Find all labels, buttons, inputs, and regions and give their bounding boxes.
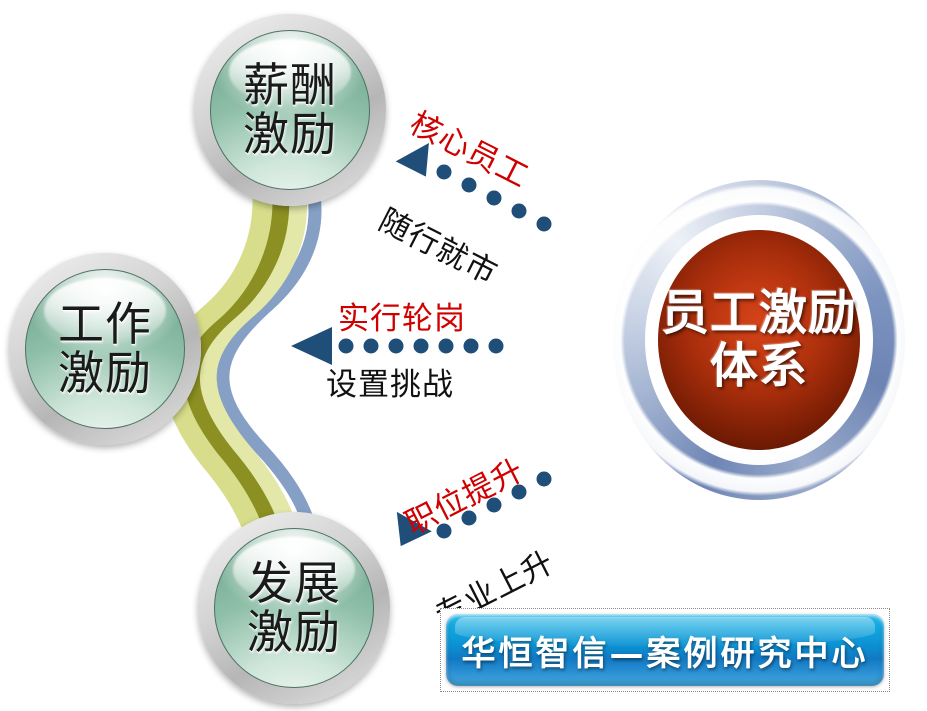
core-label: 员工激励 体系	[661, 287, 857, 393]
arrow-bottom-label-set-challenges: 设置挑战	[326, 359, 454, 404]
node-salary-incentive[interactable]: 薪酬 激励	[194, 14, 386, 206]
banner-selection-frame[interactable]: 华恒智信—案例研究中心	[440, 608, 890, 692]
arrow-top-label-job-rotation: 实行轮岗	[338, 293, 466, 338]
credit-banner[interactable]: 华恒智信—案例研究中心	[446, 614, 884, 686]
node-label-salary: 薪酬 激励	[243, 61, 337, 159]
node-work-incentive[interactable]: 工作 激励	[9, 253, 201, 445]
arrow-group-core-employee[interactable]: 核心员工 随行就市	[396, 100, 596, 275]
banner-label: 华恒智信—案例研究中心	[462, 626, 869, 675]
core-employee-incentive-system[interactable]: 员工激励 体系	[613, 180, 905, 500]
arrow-group-position-promotion[interactable]: 职位提升 专业上升	[382, 445, 592, 605]
node-label-development: 发展 激励	[247, 559, 341, 657]
diagram-canvas: 薪酬 激励 工作 激励 发展 激励 员工激励 体系	[0, 0, 927, 711]
node-label-work: 工作 激励	[58, 300, 152, 398]
arrow-group-job-rotation[interactable]: 实行轮岗 设置挑战	[288, 295, 518, 405]
node-development-incentive[interactable]: 发展 激励	[198, 512, 390, 704]
